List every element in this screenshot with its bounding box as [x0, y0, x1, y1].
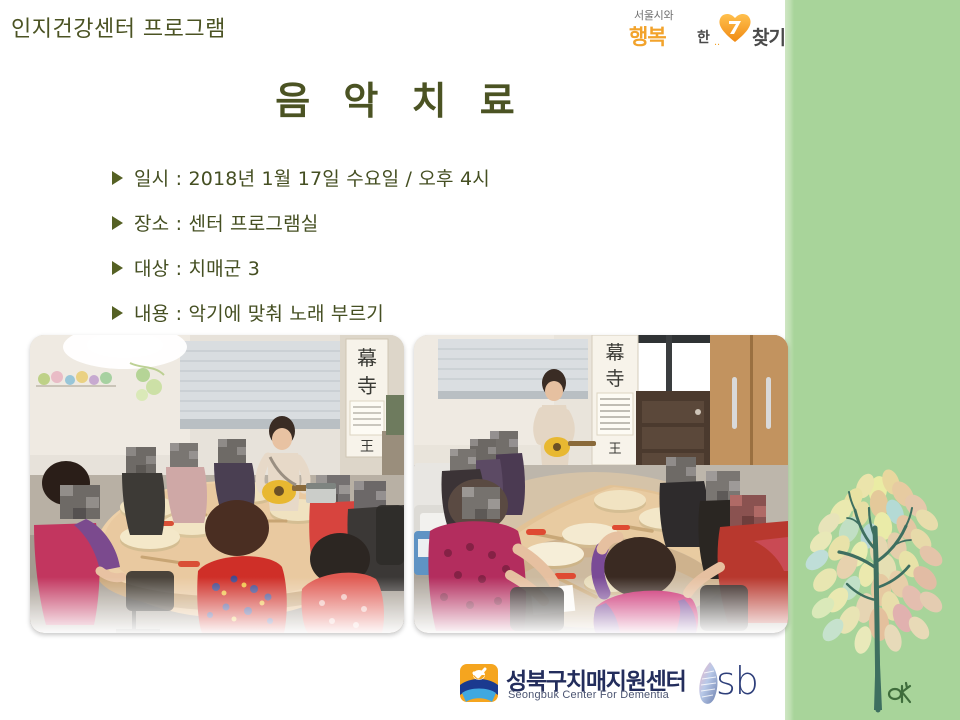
presentation-slide: 인지건강센터 프로그램 서울시와 행복 한 .. 찾기 음 악 치 료	[0, 0, 960, 720]
seoul-happiness-logo: 서울시와 행복 한 .. 찾기	[625, 6, 785, 52]
page-title: 인지건강센터 프로그램	[11, 11, 226, 43]
seongbuk-center-logo: 성북구치매지원센터 Seongbuk Center For Dementia	[458, 659, 768, 709]
heart-icon	[718, 12, 752, 43]
svg-text:寺: 寺	[605, 368, 624, 390]
brand-happy-word: 행복	[629, 21, 666, 51]
triangle-bullet-icon	[112, 171, 123, 185]
pastel-tree-illustration	[803, 442, 953, 714]
artist-signature-icon	[889, 683, 910, 702]
list-item-label: 내용 : 악기에 맞춰 노래 부르기	[134, 299, 384, 326]
list-item: 장소 : 센터 프로그램실	[112, 200, 732, 245]
brand-han-word: 한	[697, 27, 710, 47]
logo-sb-text: sb	[716, 659, 758, 703]
triangle-bullet-icon	[112, 261, 123, 275]
svg-text:幕: 幕	[605, 342, 624, 364]
slide-bullet-list: 일시 : 2018년 1월 17일 수요일 / 오후 4시 장소 : 센터 프로…	[112, 155, 732, 335]
list-item-label: 대상 : 치매군 3	[134, 254, 260, 281]
list-item: 내용 : 악기에 맞춰 노래 부르기	[112, 290, 732, 335]
brand-find-word: 찾기	[752, 23, 785, 50]
svg-text:寺: 寺	[357, 374, 377, 398]
triangle-bullet-icon	[112, 306, 123, 320]
svg-text:王: 王	[608, 442, 621, 457]
svg-text:王: 王	[360, 439, 374, 455]
photo-music-therapy-left: 幕 寺 王	[30, 335, 404, 633]
list-item: 일시 : 2018년 1월 17일 수요일 / 오후 4시	[112, 155, 732, 200]
list-item: 대상 : 치매군 3	[112, 245, 732, 290]
triangle-bullet-icon	[112, 216, 123, 230]
list-item-label: 일시 : 2018년 1월 17일 수요일 / 오후 4시	[134, 164, 490, 191]
seongbuk-person-mark-icon	[458, 663, 500, 705]
logo-english-name: Seongbuk Center For Dementia	[508, 689, 669, 701]
svg-text:幕: 幕	[357, 346, 377, 370]
list-item-label: 장소 : 센터 프로그램실	[134, 209, 318, 236]
slide-main-title: 음 악 치 료	[0, 70, 790, 125]
right-green-side-panel	[785, 0, 960, 720]
photo-music-therapy-right: 幕 寺 王	[414, 335, 788, 633]
